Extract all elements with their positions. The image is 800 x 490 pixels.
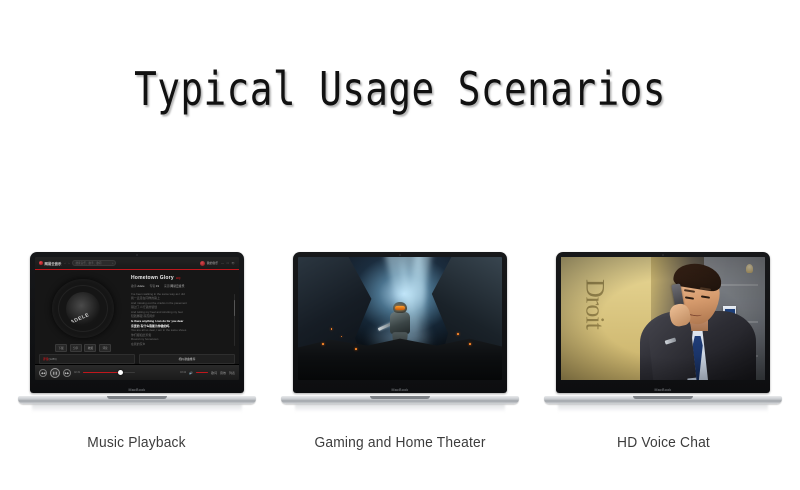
lyric-line: 在我的家乡 — [131, 342, 235, 347]
comment-button[interactable]: 评论 — [99, 344, 111, 352]
quality-badge: HQ — [176, 276, 181, 280]
scenario-card-gaming: MacBook Gaming and Home Theater — [281, 252, 519, 482]
laptop-gaming: MacBook — [281, 252, 519, 412]
laptop-lid: MacBook — [293, 252, 507, 393]
volume-icon[interactable]: 🔊 — [189, 371, 193, 375]
song-title: Hometown GloryHQ — [131, 275, 235, 281]
laptop-reflection — [295, 404, 505, 412]
tab-comments-count: (1286) — [49, 357, 57, 361]
webcam-icon — [399, 254, 401, 256]
ember-particle — [322, 343, 324, 345]
laptop-screen-music: 网易云音乐 ‹ › 搜索音乐、歌手、歌词 ⌕ 我的音乐 — [35, 257, 239, 380]
tab-similar[interactable]: 相似歌曲推荐 — [139, 354, 235, 364]
ember-particle — [469, 343, 471, 345]
device-label: MacBook — [293, 388, 507, 392]
nav-back-button[interactable]: ‹ — [64, 261, 65, 265]
laptop-reflection — [558, 404, 768, 412]
lyrics-panel[interactable]: I've been walking in the same way as I d… — [131, 292, 235, 348]
page-title: Typical Usage Scenarios — [72, 62, 728, 116]
nav-forward-button[interactable]: › — [68, 261, 69, 265]
laptop-lid: 网易云音乐 ‹ › 搜索音乐、歌手、歌词 ⌕ 我的音乐 — [30, 252, 244, 393]
device-label: MacBook — [30, 388, 244, 392]
tab-comments[interactable]: 评论(1286) — [39, 354, 135, 364]
next-button[interactable]: ▶▶ — [63, 369, 71, 377]
album-art-panel: ADELE 下载 分享 收藏 评论 — [39, 275, 127, 352]
volume-slider[interactable] — [196, 372, 208, 374]
character-visor — [395, 306, 405, 310]
search-icon: ⌕ — [112, 262, 113, 265]
scenario-cards: 网易云音乐 ‹ › 搜索音乐、歌手、歌词 ⌕ 我的音乐 — [0, 252, 800, 482]
total-time: 03:42 — [180, 371, 186, 374]
ember-particle — [355, 348, 357, 350]
player-toolbar: 网易云音乐 ‹ › 搜索音乐、歌手、歌词 ⌕ 我的音乐 — [35, 257, 239, 270]
download-button[interactable]: 下载 — [55, 344, 67, 352]
meta-album-value[interactable]: 19 — [156, 284, 159, 288]
laptop-base — [18, 396, 256, 404]
video-call-scene: Droit — [561, 257, 765, 380]
user-account[interactable]: 我的音乐 — [200, 261, 218, 266]
app-logo: 网易云音乐 — [39, 261, 61, 266]
laptop-screen-gaming — [298, 257, 502, 380]
playlist-icon[interactable]: 列表 — [229, 371, 235, 375]
lyrics-toggle-icon[interactable]: 歌词 — [211, 371, 217, 375]
character-torso — [390, 312, 410, 334]
laptop-voice-chat: Droit — [544, 252, 782, 412]
laptop-reflection — [32, 404, 242, 412]
search-input[interactable]: 搜索音乐、歌手、歌词 ⌕ — [72, 260, 116, 266]
laptop-music: 网易云音乐 ‹ › 搜索音乐、歌手、歌词 ⌕ 我的音乐 — [18, 252, 256, 412]
ember-particle — [457, 333, 459, 335]
track-action-buttons: 下载 分享 收藏 评论 — [55, 344, 111, 352]
lyrics-scrollbar[interactable] — [234, 294, 236, 346]
meta-source: 来源:网易云音乐 — [164, 284, 184, 288]
caption-hd-voice-chat: HD Voice Chat — [617, 434, 710, 451]
laptop-lid: Droit — [556, 252, 770, 393]
meta-album: 专辑:19 — [150, 284, 160, 288]
search-placeholder: 搜索音乐、歌手、歌词 — [75, 261, 101, 265]
caption-music-playback: Music Playback — [88, 434, 186, 451]
logo-icon — [39, 261, 43, 265]
meta-artist-value[interactable]: Adele — [137, 284, 144, 288]
scenario-card-voice-chat: Droit — [544, 252, 782, 482]
app-name: 网易云音乐 — [45, 261, 62, 266]
vinyl-label: ADELE — [66, 292, 100, 326]
music-player-app: 网易云音乐 ‹ › 搜索音乐、歌手、歌词 ⌕ 我的音乐 — [35, 257, 239, 380]
caption-gaming-home-theater: Gaming and Home Theater — [314, 434, 485, 451]
previous-button[interactable]: ◀◀ — [39, 369, 47, 377]
song-meta: 歌手:Adele 专辑:19 来源:网易云音乐 — [131, 284, 235, 288]
laptop-base — [544, 396, 782, 404]
meta-source-value: 网易云音乐 — [170, 284, 184, 288]
device-label: MacBook — [556, 388, 770, 392]
play-pause-button[interactable]: ❚❚ — [50, 368, 60, 378]
meta-artist: 歌手:Adele — [131, 284, 145, 288]
player-body: ADELE 下载 分享 收藏 评论 — [35, 270, 239, 352]
song-title-text: Hometown Glory — [131, 275, 174, 281]
song-info-panel: ♡ Hometown GloryHQ 歌手:Adele 专辑:19 — [127, 275, 235, 352]
webcam-icon — [662, 254, 664, 256]
webcam-icon — [136, 254, 138, 256]
share-button[interactable]: 分享 — [70, 344, 82, 352]
ember-particle — [331, 328, 333, 330]
heart-icon[interactable]: ♡ — [231, 261, 235, 266]
laptop-screen-voice-chat: Droit — [561, 257, 765, 380]
avatar — [200, 261, 205, 266]
progress-slider[interactable] — [83, 372, 135, 374]
elapsed-time: 02:31 — [74, 371, 80, 374]
user-name: 我的音乐 — [207, 261, 218, 265]
vinyl-record: ADELE — [52, 279, 114, 338]
vignette-overlay — [561, 257, 765, 380]
scenario-card-music: 网易云音乐 ‹ › 搜索音乐、歌手、歌词 ⌕ 我的音乐 — [18, 252, 256, 482]
laptop-base — [281, 396, 519, 404]
favorite-button[interactable]: 收藏 — [84, 344, 96, 352]
album-artist-label: ADELE — [70, 312, 91, 326]
equalizer-icon[interactable]: 音效 — [220, 371, 226, 375]
game-scene — [298, 257, 502, 380]
player-controls: ◀◀ ❚❚ ▶▶ 02:31 03:42 🔊 歌词 音效 列表 — [35, 364, 239, 380]
